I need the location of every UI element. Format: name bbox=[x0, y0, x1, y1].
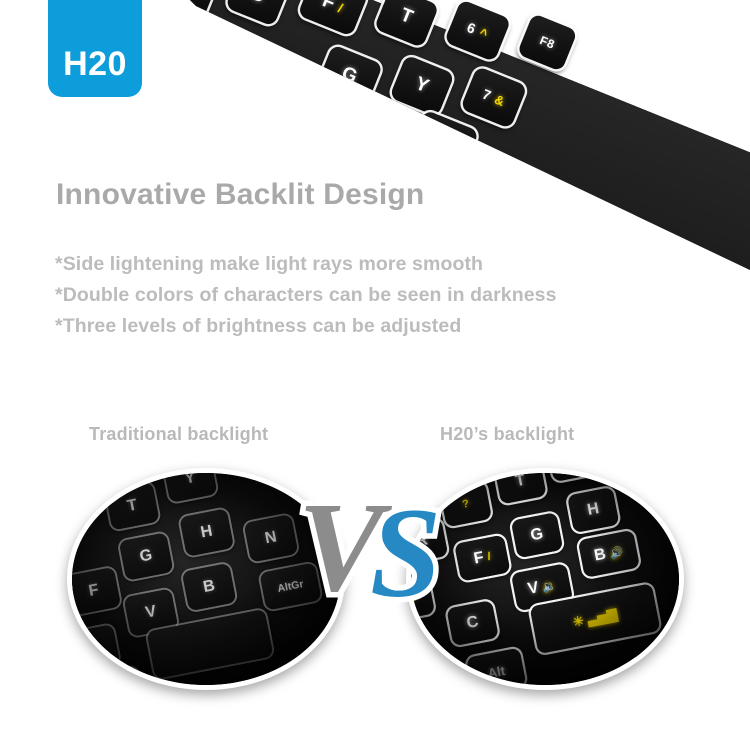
versus-mark: V S bbox=[296, 478, 466, 618]
page-title: Innovative Backlit Design bbox=[56, 178, 424, 212]
key-label: C bbox=[247, 0, 268, 8]
key-alt: Alt bbox=[162, 25, 240, 92]
oval-key-c: C bbox=[72, 624, 120, 672]
key-label: U bbox=[427, 127, 448, 153]
key-label: Alt bbox=[486, 662, 506, 680]
oval-key-h: H bbox=[179, 508, 234, 556]
key-h: H bbox=[333, 99, 398, 161]
key-label: G bbox=[138, 546, 154, 566]
key-label: V bbox=[257, 94, 277, 119]
product-badge-label: H20 bbox=[63, 47, 127, 81]
oval-key-t: T bbox=[494, 473, 546, 504]
key-secondary-symbol: / bbox=[486, 551, 491, 563]
marketing-banner: ·ː C F / T 6 ^ F8 Alt bbox=[0, 0, 750, 750]
feature-list: *Side lightening make light rays more sm… bbox=[55, 249, 557, 342]
feature-item: *Side lightening make light rays more sm… bbox=[55, 249, 557, 280]
key-label: F bbox=[87, 581, 100, 601]
oval-key-g: G bbox=[511, 512, 563, 558]
key-label: 7 bbox=[480, 86, 494, 104]
key-label: Alt bbox=[189, 48, 214, 70]
oval-key-t: T bbox=[105, 482, 160, 530]
product-badge: H20 bbox=[48, 0, 142, 97]
key-label: N bbox=[305, 217, 326, 243]
key-label: T bbox=[514, 473, 527, 491]
comparison-label-h20: H20’s backlight bbox=[440, 424, 574, 445]
feature-item: *Three levels of brightness can be adjus… bbox=[55, 311, 557, 342]
oval-key-b: B 🔊 bbox=[578, 530, 640, 578]
key-label: T bbox=[126, 496, 139, 516]
oval-key-n: N bbox=[244, 514, 299, 562]
key-secondary-symbol-volume-down: 🔉 bbox=[541, 578, 557, 593]
comparison-label-traditional: Traditional backlight bbox=[89, 424, 268, 445]
key-secondary-symbol-prev: ◀ bbox=[324, 227, 340, 246]
key-label: N bbox=[264, 528, 279, 548]
key-secondary-symbol-brightness: ☀ ▃▅▇ bbox=[571, 607, 618, 631]
key-label: T bbox=[397, 4, 416, 29]
key-secondary-symbol: & bbox=[493, 91, 508, 109]
key-label: V bbox=[526, 579, 540, 599]
oval-key-y: Y bbox=[163, 473, 218, 503]
key-secondary-symbol-volume-down: 🔉 bbox=[275, 104, 296, 125]
key-secondary-symbol: / bbox=[336, 0, 345, 15]
key-label: B bbox=[202, 577, 217, 597]
feature-item: *Double colors of characters can be seen… bbox=[55, 280, 557, 311]
key-label: C bbox=[85, 638, 100, 658]
key-label: Y bbox=[183, 473, 197, 489]
key-label: F bbox=[472, 549, 485, 569]
key-label: F8 bbox=[538, 33, 557, 52]
oval-key-alt: Alt bbox=[466, 648, 526, 685]
key-label: H bbox=[355, 117, 376, 143]
versus-letter-s: S bbox=[370, 482, 441, 624]
key-label: B bbox=[593, 546, 608, 566]
oval-key-y: Y bbox=[547, 473, 599, 482]
key-secondary-symbol-volume-up: 🔊 bbox=[609, 545, 625, 560]
oval-key-g: G bbox=[119, 532, 174, 580]
key-v: V 🔉 bbox=[236, 77, 318, 146]
key-label: 6 bbox=[465, 19, 479, 37]
key-label: H bbox=[199, 523, 214, 543]
key-label: G bbox=[529, 525, 545, 545]
key-label: G bbox=[338, 63, 360, 89]
key-secondary-symbol: ^ bbox=[477, 25, 490, 42]
key-label: Y bbox=[412, 73, 432, 98]
oval-key-f: F bbox=[72, 567, 121, 615]
key-label: H bbox=[586, 500, 601, 520]
key-label: V bbox=[144, 603, 158, 623]
oval-key-alt: Alt bbox=[84, 666, 144, 685]
key-label: C bbox=[465, 613, 480, 633]
oval-key-h: H bbox=[567, 487, 619, 533]
oval-key-b: B bbox=[182, 563, 237, 611]
key-secondary-symbol: – bbox=[446, 137, 459, 154]
key-label: Alt bbox=[104, 681, 124, 685]
key-secondary-symbol-brightness: ☀ ▃▅▇ bbox=[193, 140, 250, 177]
